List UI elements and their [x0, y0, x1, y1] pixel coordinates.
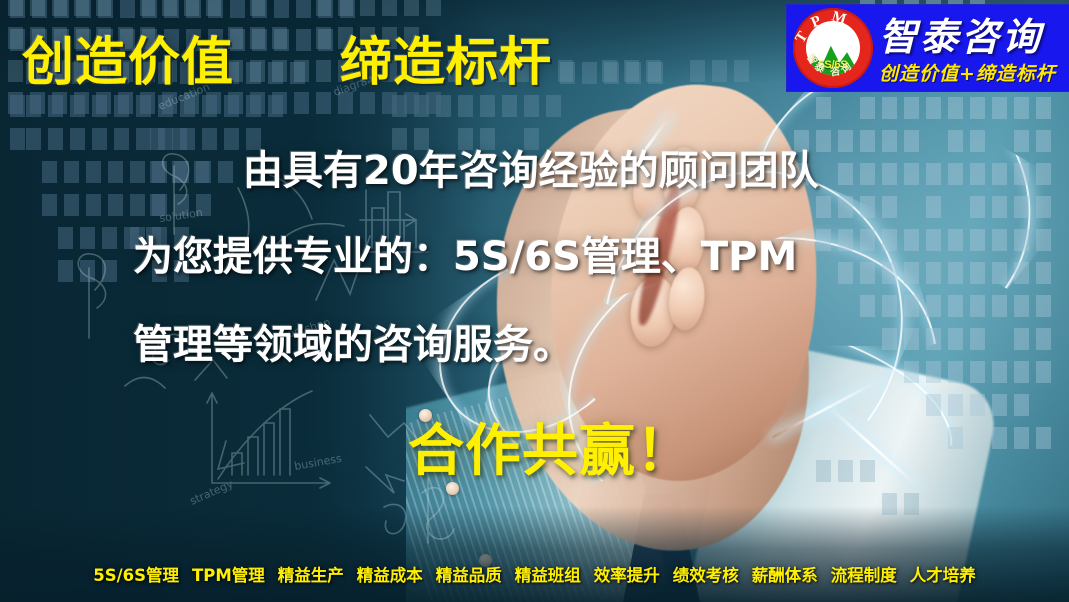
footer-keyword[interactable]: 精益生产: [278, 562, 344, 586]
body-line-3: 管理等领域的咨询服务。: [133, 312, 573, 370]
slide-canvas: education diagram solution workshop busi…: [0, 0, 1069, 602]
page-title: 创造价值 缔造标杆: [22, 20, 552, 95]
footer-keyword[interactable]: TPM管理: [192, 562, 265, 586]
logo-arc-bottom: 智泰 咨询: [793, 8, 873, 88]
slogan-text: 合作共赢！: [408, 406, 693, 487]
footer-keyword[interactable]: 薪酬体系: [752, 562, 818, 586]
footer-keyword-strip: 5S/6S管理TPM管理精益生产精益成本精益品质精益班组效率提升绩效考核薪酬体系…: [0, 562, 1069, 586]
logo-arc-bottom-text: 智泰 咨询: [804, 51, 856, 78]
footer-keyword[interactable]: 精益班组: [515, 562, 581, 586]
tpm-seal-logo: 5S/6S TPM 智泰 咨询: [793, 8, 873, 88]
svg-text:智泰 咨询: 智泰 咨询: [804, 51, 856, 78]
company-name: 智泰咨询: [879, 6, 1043, 61]
footer-keyword[interactable]: 效率提升: [594, 562, 660, 586]
company-tagline: 创造价值+缔造标杆: [879, 59, 1056, 86]
footer-keyword[interactable]: 精益成本: [357, 562, 423, 586]
footer-keyword[interactable]: 精益品质: [436, 562, 502, 586]
body-line-1: 由具有20年咨询经验的顾问团队: [243, 138, 819, 196]
footer-keyword[interactable]: 5S/6S管理: [93, 562, 179, 586]
footer-keyword[interactable]: 流程制度: [831, 562, 897, 586]
footer-keyword[interactable]: 人才培养: [910, 562, 976, 586]
doodle-word-solution: solution: [159, 206, 204, 225]
company-logo-badge[interactable]: 5S/6S TPM 智泰 咨询 智泰咨询 创造价值+缔造标杆: [787, 5, 1069, 91]
body-line-2: 为您提供专业的：5S/6S管理、TPM: [133, 224, 797, 282]
footer-keyword[interactable]: 绩效考核: [673, 562, 739, 586]
